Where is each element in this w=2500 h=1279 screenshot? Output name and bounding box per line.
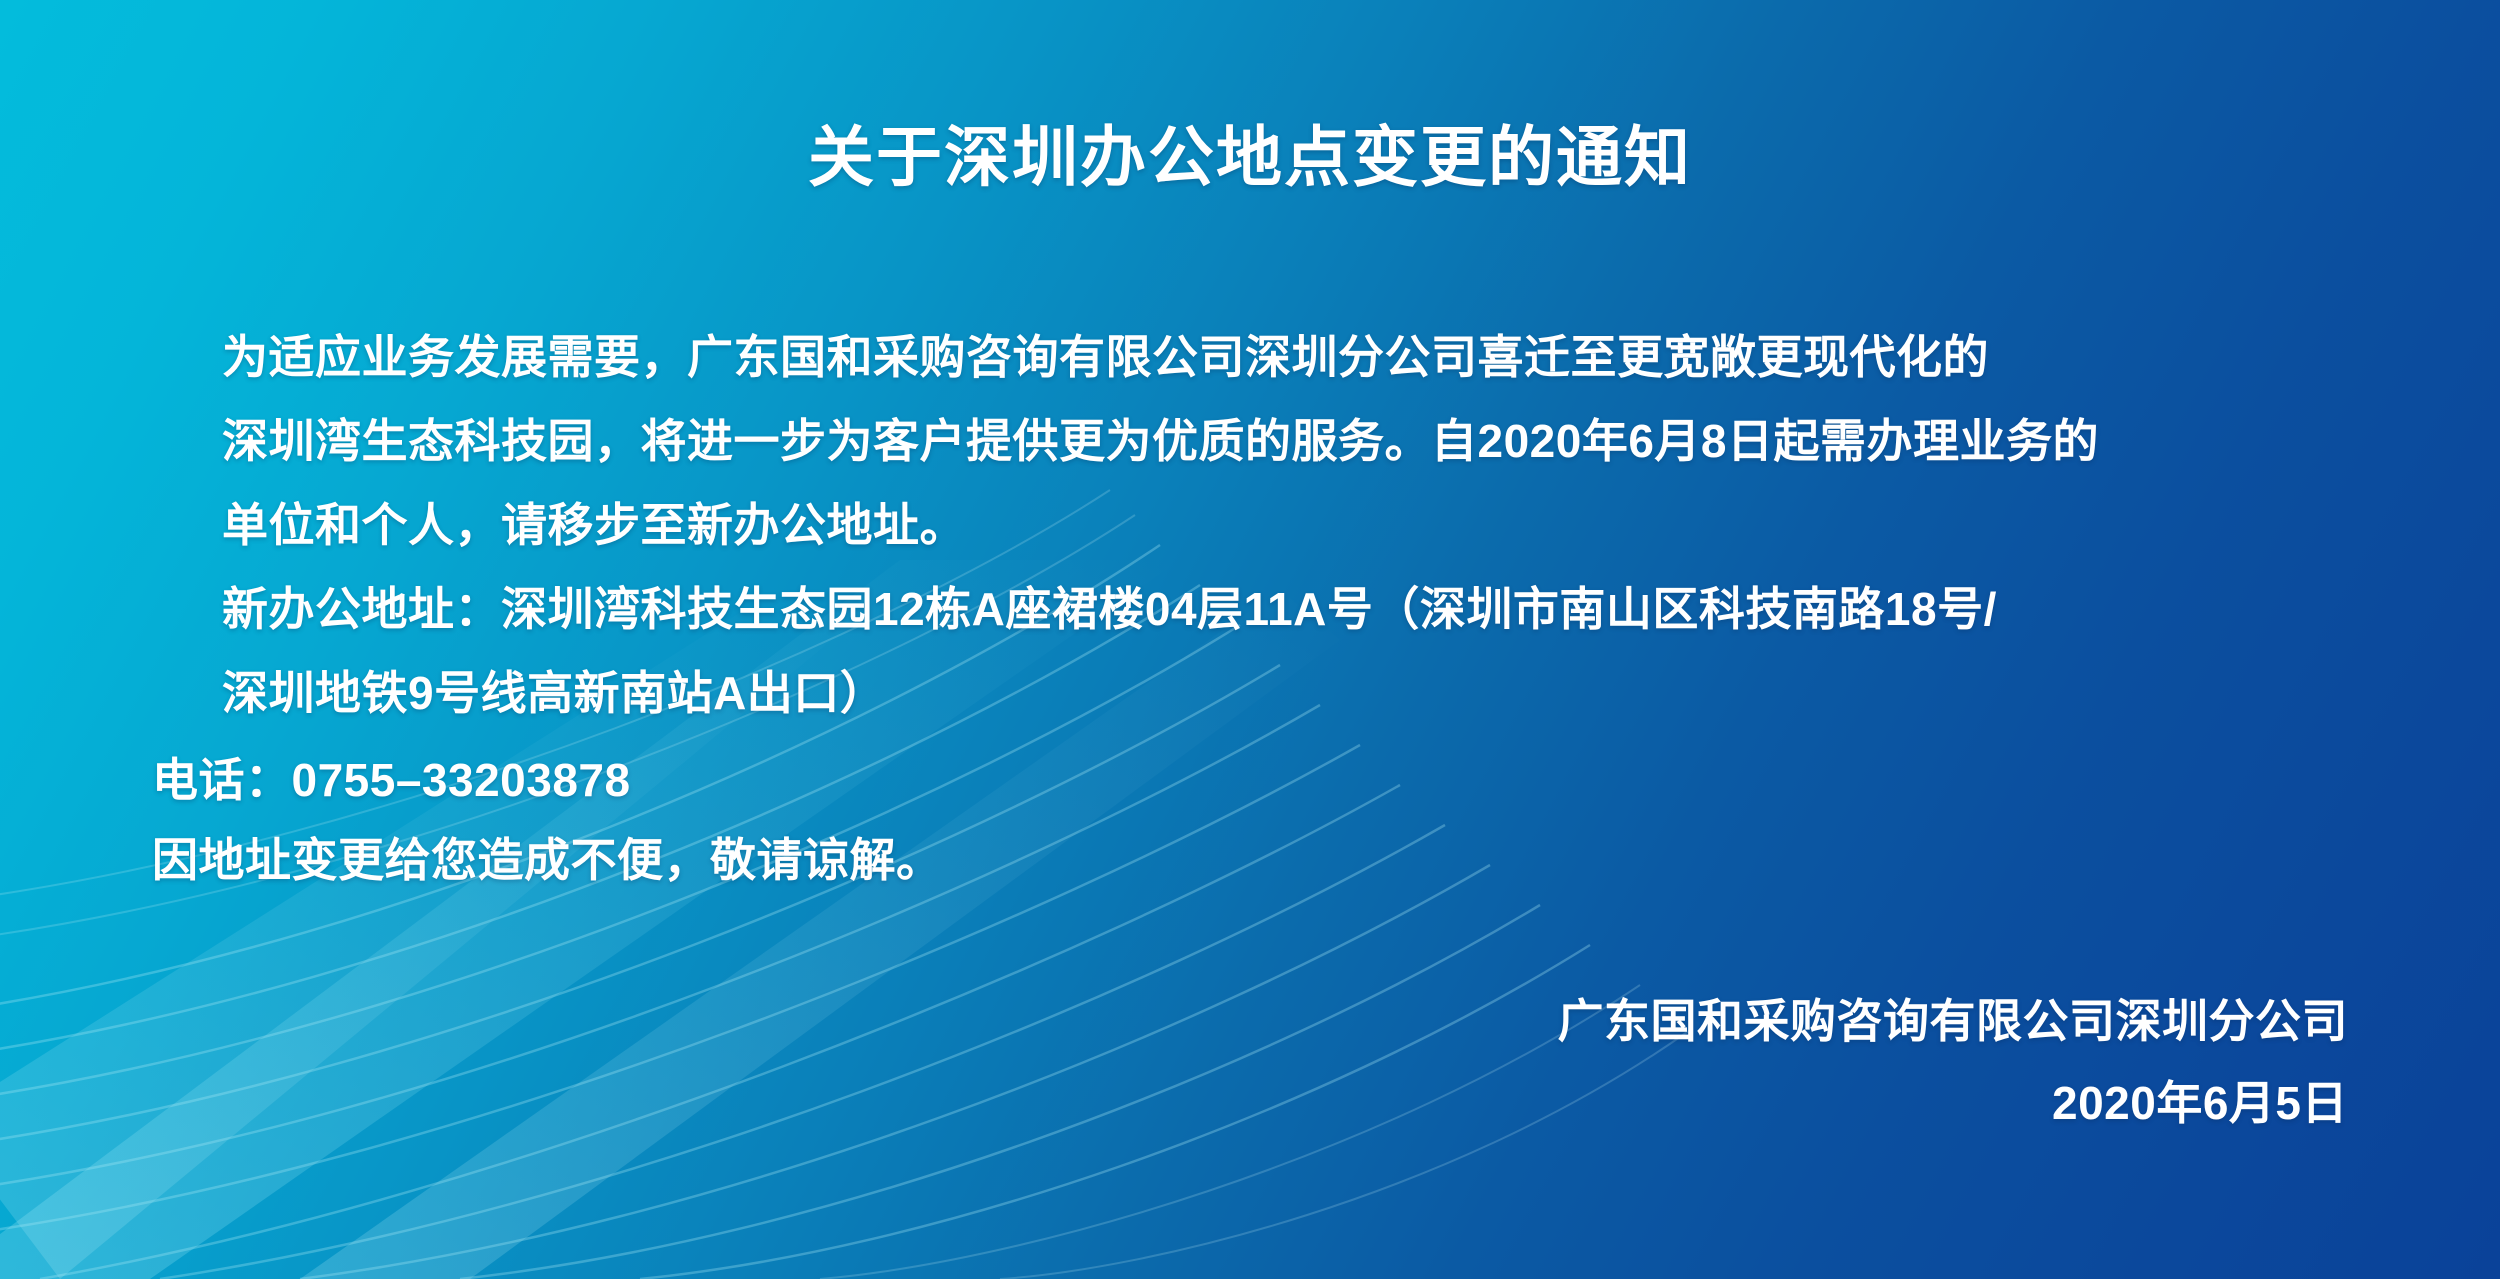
signature-company: 广东国和采购咨询有限公司深圳分公司 (1558, 980, 2349, 1062)
page-title: 关于深圳办公地点变更的通知 (0, 120, 2500, 196)
signature-date: 2020年6月5日 (1558, 1062, 2349, 1144)
paragraph-line: 单位和个人，请移步至新办公地址。 (130, 483, 2390, 567)
notice-body: 为适应业务发展需要，广东国和采购咨询有限公司深圳分公司喜迁至更宽敞更现代化的 深… (130, 315, 2390, 735)
paragraph-line: 深圳湾生态科技园，将进一步为客户提供更为优质的服务。自2020年6月8日起需办理… (130, 399, 2390, 483)
paragraph-line: 为适应业务发展需要，广东国和采购咨询有限公司深圳分公司喜迁至更宽敞更现代化的 (130, 315, 2390, 399)
paragraph-address: 新办公地址：深圳湾科技生态园12栋A座裙楼04层11A号（深圳市南山区科技南路1… (130, 567, 2390, 735)
paragraph-intro: 为适应业务发展需要，广东国和采购咨询有限公司深圳分公司喜迁至更宽敞更现代化的 深… (130, 315, 2390, 567)
signature-block: 广东国和采购咨询有限公司深圳分公司 2020年6月5日 (1558, 980, 2349, 1144)
phone-line: 电话：0755–33203878 (152, 740, 943, 820)
notice-content: 关于深圳办公地点变更的通知 为适应业务发展需要，广东国和采购咨询有限公司深圳分公… (0, 0, 2500, 1279)
contact-block: 电话：0755–33203878 因地址变更给您造成不便，敬请谅解。 (152, 740, 943, 900)
notice-poster: 关于深圳办公地点变更的通知 为适应业务发展需要，广东国和采购咨询有限公司深圳分公… (0, 0, 2500, 1279)
address-line: 深圳地铁9号线高新南站A出口） (130, 651, 2390, 735)
address-line: 新办公地址：深圳湾科技生态园12栋A座裙楼04层11A号（深圳市南山区科技南路1… (130, 567, 2390, 651)
apology-line: 因地址变更给您造成不便，敬请谅解。 (152, 820, 943, 900)
